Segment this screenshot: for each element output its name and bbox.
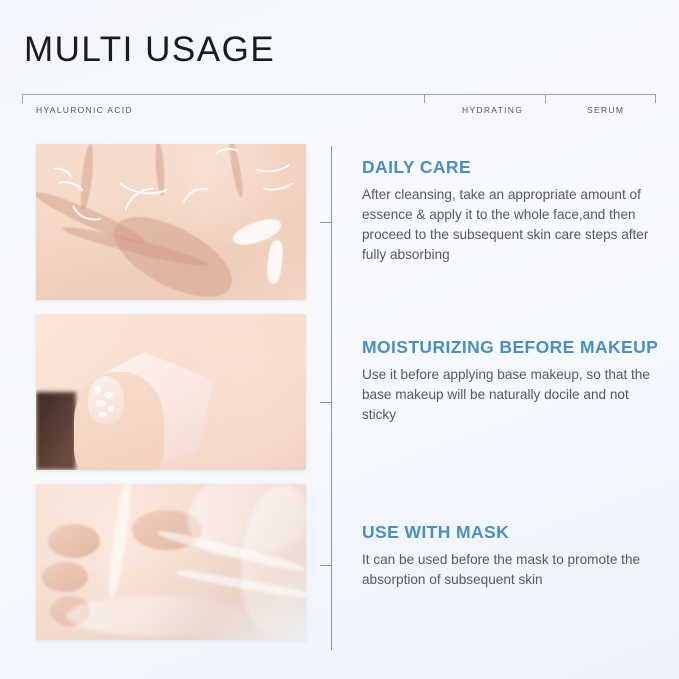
- rule-tick-1: [424, 94, 425, 103]
- section-use-with-mask: USE WITH MASK It can be used before the …: [362, 521, 662, 590]
- infographic-page: MULTI USAGE HYALURONIC ACID HYDRATING SE…: [0, 0, 679, 679]
- photo-sponge-applying-makeup: [36, 314, 306, 470]
- divider-tick-1: [320, 222, 331, 223]
- section-heading: MOISTURIZING BEFORE MAKEUP: [362, 336, 662, 358]
- tag-label-hyaluronic-acid: HYALURONIC ACID: [36, 105, 133, 115]
- section-body: It can be used before the mask to promot…: [362, 550, 662, 590]
- rule-tick-end: [655, 94, 656, 103]
- rule-tick-start: [22, 94, 23, 103]
- rule-tick-2: [545, 94, 546, 103]
- page-title: MULTI USAGE: [24, 30, 275, 70]
- section-daily-care: DAILY CARE After cleansing, take an appr…: [362, 156, 662, 265]
- section-body: Use it before applying base makeup, so t…: [362, 365, 662, 425]
- photo-palm-with-serum-drops: [36, 144, 306, 300]
- divider-tick-2: [320, 402, 331, 403]
- section-body: After cleansing, take an appropriate amo…: [362, 185, 662, 264]
- photo-column: [36, 144, 306, 654]
- section-heading: DAILY CARE: [362, 156, 662, 178]
- rule-line: [22, 94, 656, 95]
- tag-label-hydrating: HYDRATING: [462, 105, 523, 115]
- divider-tick-3: [320, 565, 331, 566]
- vertical-divider: [331, 146, 332, 650]
- section-moisturizing-before-makeup: MOISTURIZING BEFORE MAKEUP Use it before…: [362, 336, 662, 425]
- header-tag-rule: HYALURONIC ACID HYDRATING SERUM: [22, 94, 656, 122]
- tag-label-serum: SERUM: [587, 105, 624, 115]
- section-heading: USE WITH MASK: [362, 521, 662, 543]
- photo-sheet-mask-on-hand: [36, 484, 306, 640]
